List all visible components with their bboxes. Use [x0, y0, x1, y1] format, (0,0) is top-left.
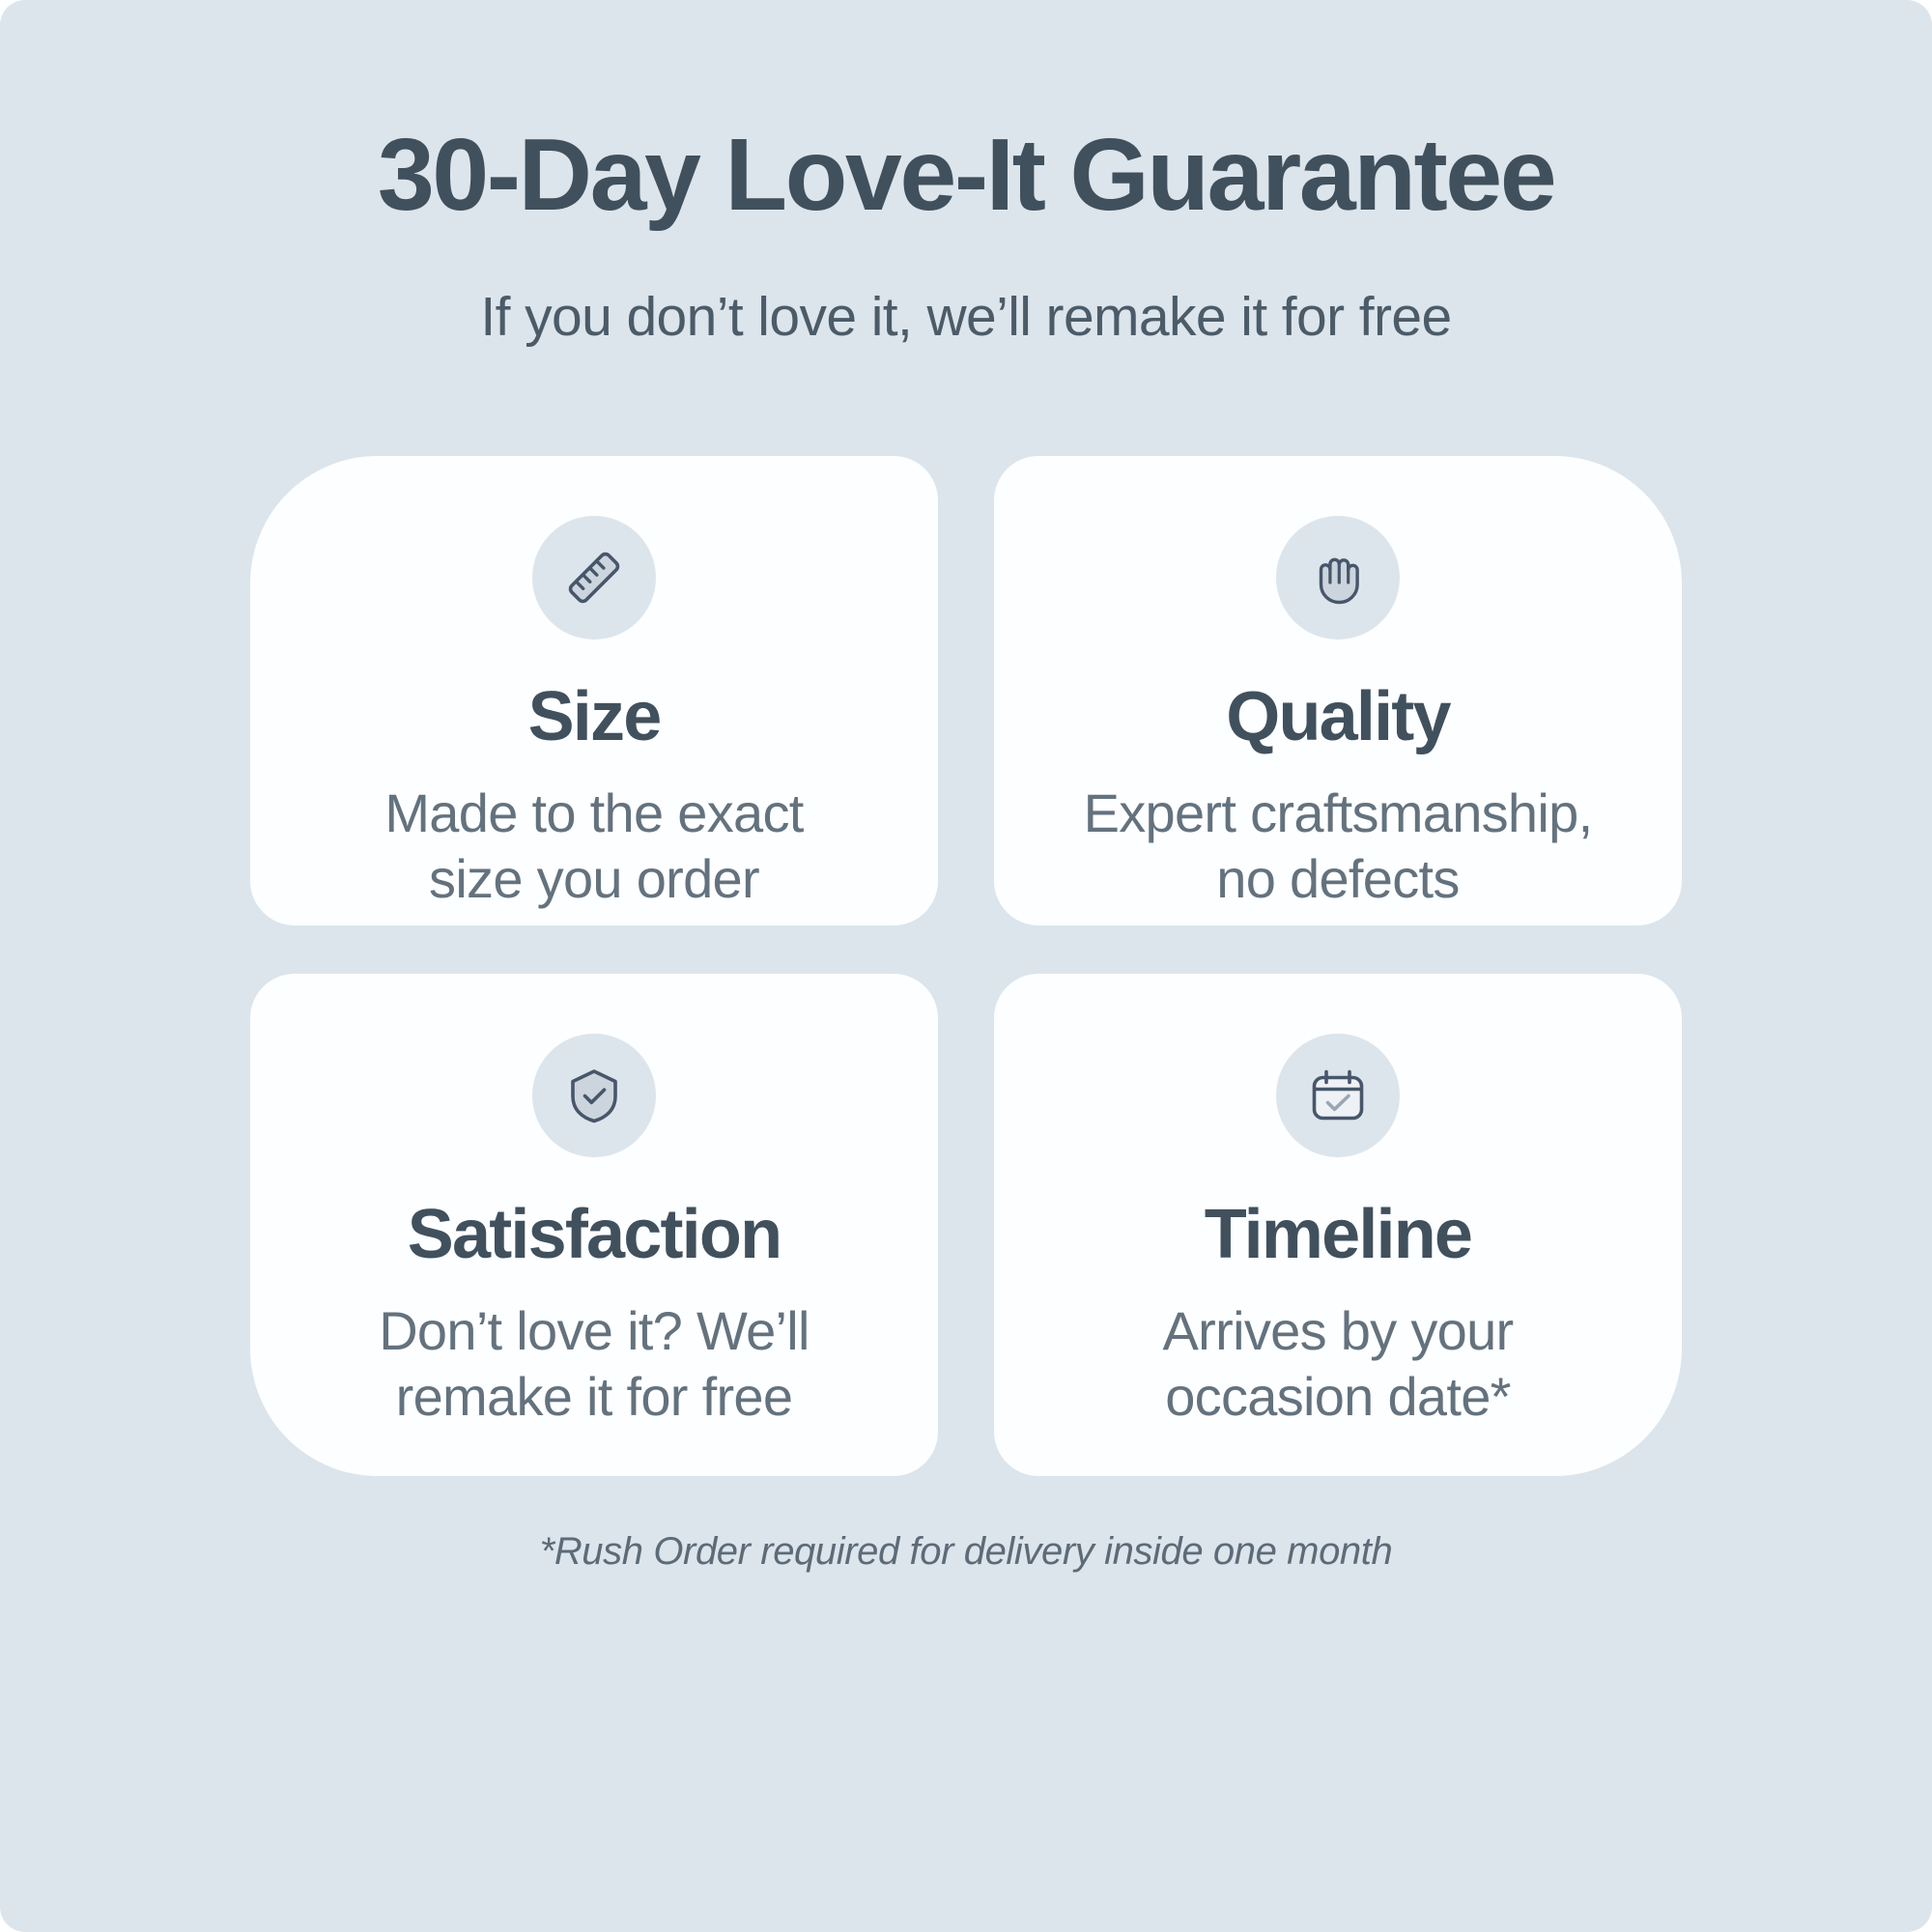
page-title: 30-Day Love-It Guarantee [0, 124, 1932, 226]
card-title: Quality [1226, 682, 1449, 752]
guarantee-panel: 30-Day Love-It Guarantee If you don’t lo… [0, 0, 1932, 1932]
header: 30-Day Love-It Guarantee If you don’t lo… [0, 0, 1932, 350]
guarantee-card-timeline: Timeline Arrives by your occasion date* [994, 974, 1682, 1476]
card-title: Satisfaction [408, 1200, 781, 1269]
guarantee-card-size: Size Made to the exact size you order [250, 456, 938, 925]
guarantee-card-satisfaction: Satisfaction Don’t love it? We’ll remake… [250, 974, 938, 1476]
hand-palm-icon [1301, 541, 1375, 614]
calendar-check-icon [1301, 1059, 1375, 1132]
shield-check-icon [557, 1059, 631, 1132]
icon-badge [532, 516, 656, 639]
card-description: Arrives by your occasion date* [1163, 1298, 1514, 1431]
card-description: Made to the exact size you order [384, 781, 803, 913]
page-subtitle: If you don’t love it, we’ll remake it fo… [0, 286, 1932, 350]
card-title: Timeline [1205, 1200, 1471, 1269]
icon-badge [1276, 1034, 1400, 1157]
guarantee-card-quality: Quality Expert craftsmanship, no defects [994, 456, 1682, 925]
card-description: Expert craftsmanship, no defects [1084, 781, 1593, 913]
ruler-icon [557, 541, 631, 614]
card-title: Size [528, 682, 661, 752]
icon-badge [1276, 516, 1400, 639]
rush-order-footnote: *Rush Order required for delivery inside… [540, 1528, 1393, 1575]
icon-badge [532, 1034, 656, 1157]
card-description: Don’t love it? We’ll remake it for free [379, 1298, 810, 1431]
guarantee-card-grid: Size Made to the exact size you order Qu… [106, 456, 1826, 1476]
